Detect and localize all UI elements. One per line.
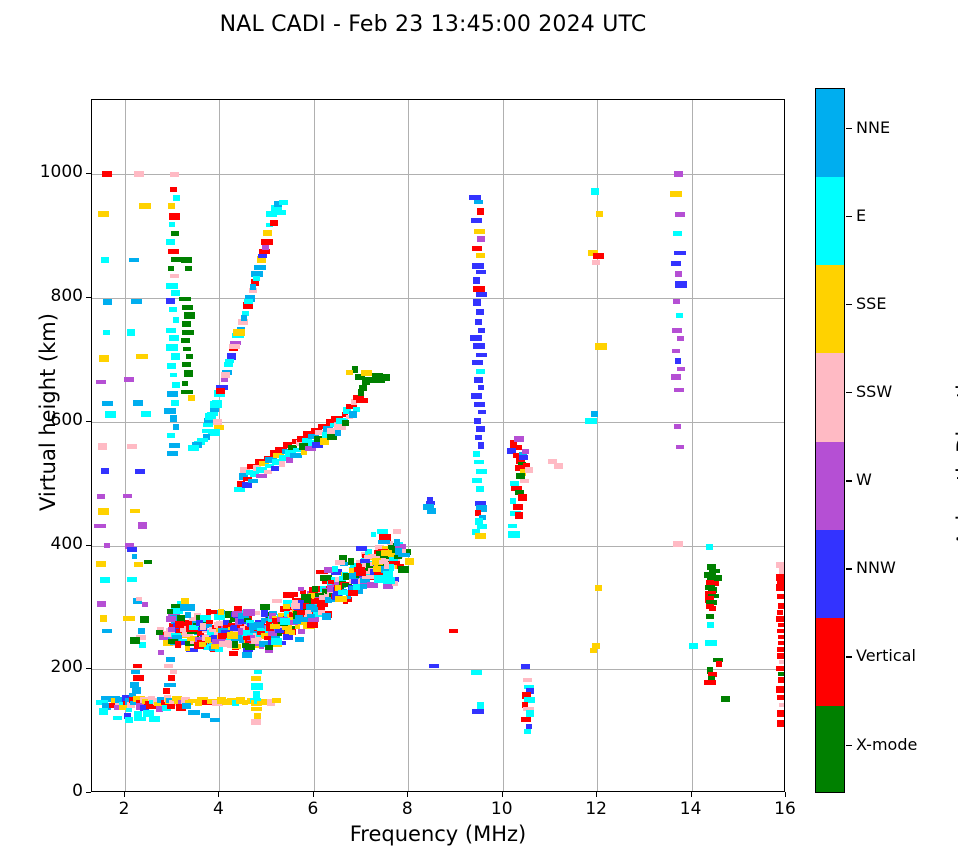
echo-point xyxy=(472,263,484,269)
x-axis-label: Frequency (MHz) xyxy=(91,822,785,846)
x-tick-label: 6 xyxy=(288,799,338,819)
x-tick-label: 2 xyxy=(99,799,149,819)
y-tick-label: 0 xyxy=(0,781,83,801)
y-tick-label: 1000 xyxy=(0,162,83,182)
echo-point xyxy=(471,393,482,399)
echo-point xyxy=(169,443,180,448)
page-title: NAL CADI - Feb 23 13:45:00 2024 UTC xyxy=(0,12,866,37)
echo-point xyxy=(263,230,272,236)
echo-point xyxy=(777,629,784,633)
echo-point xyxy=(675,358,681,364)
echo-point xyxy=(127,329,135,336)
echo-point xyxy=(307,614,315,618)
echo-point xyxy=(138,628,145,634)
echo-point xyxy=(181,338,190,343)
x-tick xyxy=(785,792,786,797)
echo-point xyxy=(779,703,785,707)
echo-point xyxy=(508,531,520,538)
echo-point xyxy=(675,271,682,277)
echo-point xyxy=(474,200,483,204)
echo-point xyxy=(251,707,262,711)
echo-point xyxy=(525,467,533,473)
echo-point xyxy=(520,479,529,483)
echo-point xyxy=(307,622,318,628)
echo-point xyxy=(342,420,349,426)
echo-point xyxy=(778,641,785,645)
echo-point xyxy=(170,373,177,377)
echo-point xyxy=(131,670,140,674)
x-tick xyxy=(691,792,692,797)
echo-point xyxy=(591,188,599,195)
echo-point xyxy=(716,661,722,667)
echo-point xyxy=(706,544,713,550)
y-tick-label: 200 xyxy=(0,657,83,677)
echo-point xyxy=(778,677,785,683)
echo-point xyxy=(139,203,151,209)
echo-point xyxy=(104,543,110,548)
echo-point xyxy=(168,266,174,271)
echo-point xyxy=(671,261,681,266)
colorbar-label-nne: NNE xyxy=(856,118,890,137)
x-tick-label: 8 xyxy=(382,799,432,819)
echo-point xyxy=(243,636,250,640)
echo-point xyxy=(471,218,482,223)
echo-point xyxy=(328,580,334,584)
echo-point xyxy=(705,640,717,646)
echo-point xyxy=(427,508,436,514)
echo-point xyxy=(245,644,255,650)
echo-point xyxy=(170,415,177,422)
echo-point xyxy=(476,369,485,374)
echo-point xyxy=(171,290,180,296)
echo-point xyxy=(94,524,106,528)
echo-point xyxy=(361,370,372,376)
echo-point xyxy=(670,191,682,197)
echo-point xyxy=(133,400,143,406)
echo-point xyxy=(508,524,517,528)
colorbar-tick xyxy=(846,656,852,657)
echo-point xyxy=(182,703,191,709)
colorbar-label-w: W xyxy=(856,470,872,489)
colorbar-tick xyxy=(846,745,852,746)
echo-point xyxy=(371,532,376,537)
echo-point xyxy=(514,436,524,442)
echo-point xyxy=(185,612,191,618)
echo-point xyxy=(123,494,132,498)
colorbar-band xyxy=(816,442,844,530)
echo-point xyxy=(709,606,716,611)
echo-point xyxy=(674,171,683,177)
echo-point xyxy=(478,328,485,333)
echo-point xyxy=(166,239,175,245)
echo-point xyxy=(474,402,485,407)
x-tick-label: 10 xyxy=(477,799,527,819)
echo-point xyxy=(353,584,360,590)
echo-point xyxy=(673,231,682,236)
echo-point xyxy=(167,391,178,397)
echo-point xyxy=(398,553,410,557)
echo-point xyxy=(776,666,784,671)
echo-point xyxy=(167,704,175,709)
echo-point xyxy=(477,236,485,242)
echo-point xyxy=(229,344,240,349)
echo-point xyxy=(221,372,230,378)
echo-point xyxy=(707,622,714,628)
echo-point xyxy=(233,329,245,336)
x-tick-label: 12 xyxy=(571,799,621,819)
ionogram-figure: NAL CADI - Feb 23 13:45:00 2024 UTC 2468… xyxy=(0,0,958,857)
echo-point xyxy=(429,664,439,668)
x-tick xyxy=(218,792,219,797)
echo-point xyxy=(478,385,484,390)
echo-point xyxy=(227,632,238,639)
echo-point xyxy=(265,645,273,650)
echo-point xyxy=(124,377,134,382)
y-tick xyxy=(86,792,91,793)
echo-point xyxy=(164,408,176,414)
echo-point xyxy=(675,281,687,288)
echo-point xyxy=(244,299,253,304)
echo-point xyxy=(188,395,195,401)
echo-point xyxy=(103,299,112,305)
x-tick xyxy=(124,792,125,797)
echo-point xyxy=(356,398,368,403)
echo-point xyxy=(291,592,298,597)
echo-point xyxy=(133,664,142,668)
echo-point xyxy=(289,630,295,635)
echo-point xyxy=(779,660,785,664)
echo-point xyxy=(378,540,390,544)
echo-point xyxy=(332,566,338,572)
echo-point xyxy=(778,603,785,609)
echo-point xyxy=(318,604,325,610)
echo-point xyxy=(677,336,684,341)
echo-point xyxy=(171,400,179,406)
echo-point xyxy=(185,266,192,271)
echo-point xyxy=(777,720,785,727)
echo-point xyxy=(149,716,160,722)
colorbar-tick xyxy=(846,216,852,217)
colorbar-label-ssw: SSW xyxy=(856,382,892,401)
echo-point xyxy=(518,494,527,501)
echo-point xyxy=(591,411,598,417)
scatter-layer xyxy=(92,100,784,791)
echo-point xyxy=(229,651,238,656)
echo-point xyxy=(141,411,151,417)
echo-point xyxy=(234,487,245,492)
echo-point xyxy=(98,443,107,450)
echo-point xyxy=(181,257,192,263)
echo-point xyxy=(405,558,414,565)
echo-point xyxy=(256,474,267,478)
echo-point xyxy=(472,478,482,483)
echo-point xyxy=(102,171,112,177)
echo-point xyxy=(175,621,184,628)
echo-point xyxy=(203,423,213,427)
echo-point xyxy=(394,539,400,546)
echo-point xyxy=(322,613,331,620)
colorbar-label-vertical: Vertical xyxy=(856,646,916,665)
echo-point xyxy=(254,713,261,719)
echo-point xyxy=(473,299,481,306)
echo-point xyxy=(346,370,353,375)
echo-point xyxy=(298,587,304,591)
echo-point xyxy=(675,212,685,217)
echo-point xyxy=(264,470,272,474)
echo-point xyxy=(241,315,247,321)
echo-point xyxy=(475,533,486,539)
echo-point xyxy=(168,203,175,209)
echo-point xyxy=(170,274,179,278)
echo-point xyxy=(127,444,137,449)
echo-point xyxy=(307,617,319,622)
echo-point xyxy=(210,401,222,408)
echo-point xyxy=(335,596,347,602)
echo-point xyxy=(225,359,234,363)
echo-point xyxy=(97,601,106,607)
echo-point xyxy=(182,381,188,386)
echo-point xyxy=(595,343,607,350)
echo-point xyxy=(476,309,484,315)
echo-point xyxy=(163,688,170,694)
y-tick xyxy=(86,173,91,174)
colorbar-band xyxy=(816,177,844,265)
echo-point xyxy=(169,335,179,341)
echo-point xyxy=(383,577,395,584)
echo-point xyxy=(130,637,140,644)
echo-point xyxy=(126,708,132,712)
echo-point xyxy=(471,670,482,675)
echo-point xyxy=(478,442,484,449)
echo-point xyxy=(352,366,358,373)
echo-point xyxy=(188,445,199,451)
echo-point xyxy=(477,702,484,709)
echo-point xyxy=(100,577,110,583)
echo-point xyxy=(349,411,357,418)
colorbar-band xyxy=(816,706,844,793)
echo-point xyxy=(171,353,180,360)
echo-point xyxy=(173,195,180,201)
echo-point xyxy=(250,284,256,290)
echo-point xyxy=(776,616,785,622)
echo-point xyxy=(275,210,286,215)
echo-point xyxy=(140,616,149,623)
echo-point xyxy=(777,710,784,717)
colorbar-label-x-mode: X-mode xyxy=(856,735,917,754)
echo-point xyxy=(677,367,685,371)
echo-point xyxy=(476,469,487,474)
echo-point xyxy=(136,597,142,601)
echo-point xyxy=(298,629,305,634)
x-tick-label: 14 xyxy=(666,799,716,819)
echo-point xyxy=(182,330,194,335)
echo-point xyxy=(674,424,681,429)
echo-point xyxy=(98,508,109,515)
colorbar-label-sse: SSE xyxy=(856,294,886,313)
colorbar-band xyxy=(816,89,844,177)
y-tick xyxy=(86,668,91,669)
echo-point xyxy=(272,599,282,603)
echo-point xyxy=(356,570,366,576)
colorbar-tick xyxy=(846,392,852,393)
echo-point xyxy=(127,577,137,582)
echo-point xyxy=(270,624,280,629)
echo-point xyxy=(280,618,290,625)
echo-point xyxy=(232,641,238,648)
x-tick-label: 4 xyxy=(193,799,243,819)
echo-point xyxy=(472,709,484,714)
echo-point xyxy=(519,455,528,460)
echo-point xyxy=(130,509,140,513)
echo-point xyxy=(596,211,603,217)
colorbar-tick xyxy=(846,304,852,305)
echo-point xyxy=(379,374,390,381)
echo-point xyxy=(279,200,288,205)
echo-point xyxy=(206,609,211,615)
echo-point xyxy=(254,622,264,628)
echo-point xyxy=(138,522,147,529)
echo-point xyxy=(253,691,260,698)
echo-point xyxy=(776,686,784,693)
echo-point xyxy=(186,354,193,359)
echo-point xyxy=(102,401,113,406)
echo-point xyxy=(169,222,175,227)
plot-area xyxy=(91,99,785,792)
echo-point xyxy=(201,713,210,718)
echo-point xyxy=(103,330,110,335)
echo-point xyxy=(96,380,106,384)
echo-point xyxy=(251,683,263,690)
echo-point xyxy=(470,335,482,341)
x-tick xyxy=(502,792,503,797)
echo-point xyxy=(593,253,604,259)
echo-point xyxy=(200,623,206,630)
echo-point xyxy=(348,558,354,565)
echo-point xyxy=(777,653,785,659)
echo-point xyxy=(184,604,195,611)
echo-point xyxy=(306,594,311,600)
colorbar-band xyxy=(816,530,844,618)
echo-point xyxy=(166,657,175,662)
echo-point xyxy=(777,647,784,652)
echo-point xyxy=(131,299,142,304)
echo-point xyxy=(238,628,243,635)
x-tick xyxy=(596,792,597,797)
echo-point xyxy=(524,729,531,734)
echo-point xyxy=(129,258,139,262)
echo-point xyxy=(778,635,784,639)
echo-point xyxy=(526,710,534,717)
echo-point xyxy=(251,676,261,681)
echo-point xyxy=(381,558,386,564)
echo-point xyxy=(164,664,173,668)
colorbar-label-nnw: NNW xyxy=(856,558,896,577)
echo-point xyxy=(476,426,485,432)
colorbar-tick xyxy=(846,480,852,481)
echo-point xyxy=(475,435,482,440)
echo-point xyxy=(188,710,200,715)
echo-point xyxy=(171,231,179,236)
echo-point xyxy=(183,347,191,351)
echo-point xyxy=(169,307,177,312)
echo-point xyxy=(142,602,148,607)
echo-point xyxy=(778,623,785,627)
echo-point xyxy=(139,642,146,648)
echo-point xyxy=(393,529,401,534)
echo-point xyxy=(166,298,175,304)
echo-point xyxy=(672,328,682,333)
echo-point xyxy=(166,344,178,351)
echo-point xyxy=(676,445,684,449)
echo-point xyxy=(360,559,370,563)
echo-point xyxy=(595,585,602,591)
echo-point xyxy=(478,410,486,414)
echo-point xyxy=(136,354,148,359)
echo-point xyxy=(156,630,163,635)
echo-point xyxy=(167,363,176,369)
echo-point xyxy=(676,313,683,318)
echo-point xyxy=(182,305,193,310)
echo-point xyxy=(777,610,783,615)
echo-point xyxy=(279,461,285,467)
echo-point xyxy=(254,670,262,674)
echo-point xyxy=(99,708,108,715)
echo-point xyxy=(206,620,213,624)
echo-point xyxy=(473,286,485,292)
echo-point xyxy=(359,385,367,391)
echo-point xyxy=(522,449,529,454)
echo-point xyxy=(262,245,269,250)
echo-point xyxy=(473,451,480,457)
x-tick xyxy=(313,792,314,797)
echo-point xyxy=(477,208,484,215)
echo-point xyxy=(242,652,252,658)
echo-point xyxy=(253,276,260,281)
echo-point xyxy=(96,561,106,567)
echo-point xyxy=(101,468,109,474)
echo-point xyxy=(291,603,300,609)
echo-point xyxy=(706,614,714,619)
echo-point xyxy=(179,297,191,301)
echo-point xyxy=(251,719,261,725)
echo-point xyxy=(474,460,484,464)
echo-point xyxy=(777,594,785,599)
echo-point xyxy=(173,424,179,430)
echo-point xyxy=(170,172,179,177)
colorbar-band xyxy=(816,353,844,441)
echo-point xyxy=(123,616,135,621)
echo-point xyxy=(671,374,681,380)
echo-point xyxy=(170,670,177,674)
echo-point xyxy=(721,696,730,702)
echo-point xyxy=(302,617,308,622)
echo-point xyxy=(135,469,145,474)
echo-point xyxy=(689,643,698,649)
echo-point xyxy=(170,187,177,192)
echo-point xyxy=(592,260,600,265)
echo-point xyxy=(776,584,785,591)
echo-point xyxy=(674,388,684,392)
echo-point xyxy=(133,675,144,681)
echo-point xyxy=(164,683,176,687)
echo-point xyxy=(134,171,144,177)
echo-point xyxy=(513,504,523,510)
echo-point xyxy=(173,317,179,323)
echo-point xyxy=(261,610,268,617)
echo-point xyxy=(168,249,179,254)
echo-point xyxy=(521,717,531,722)
x-tick-label: 16 xyxy=(760,799,810,819)
